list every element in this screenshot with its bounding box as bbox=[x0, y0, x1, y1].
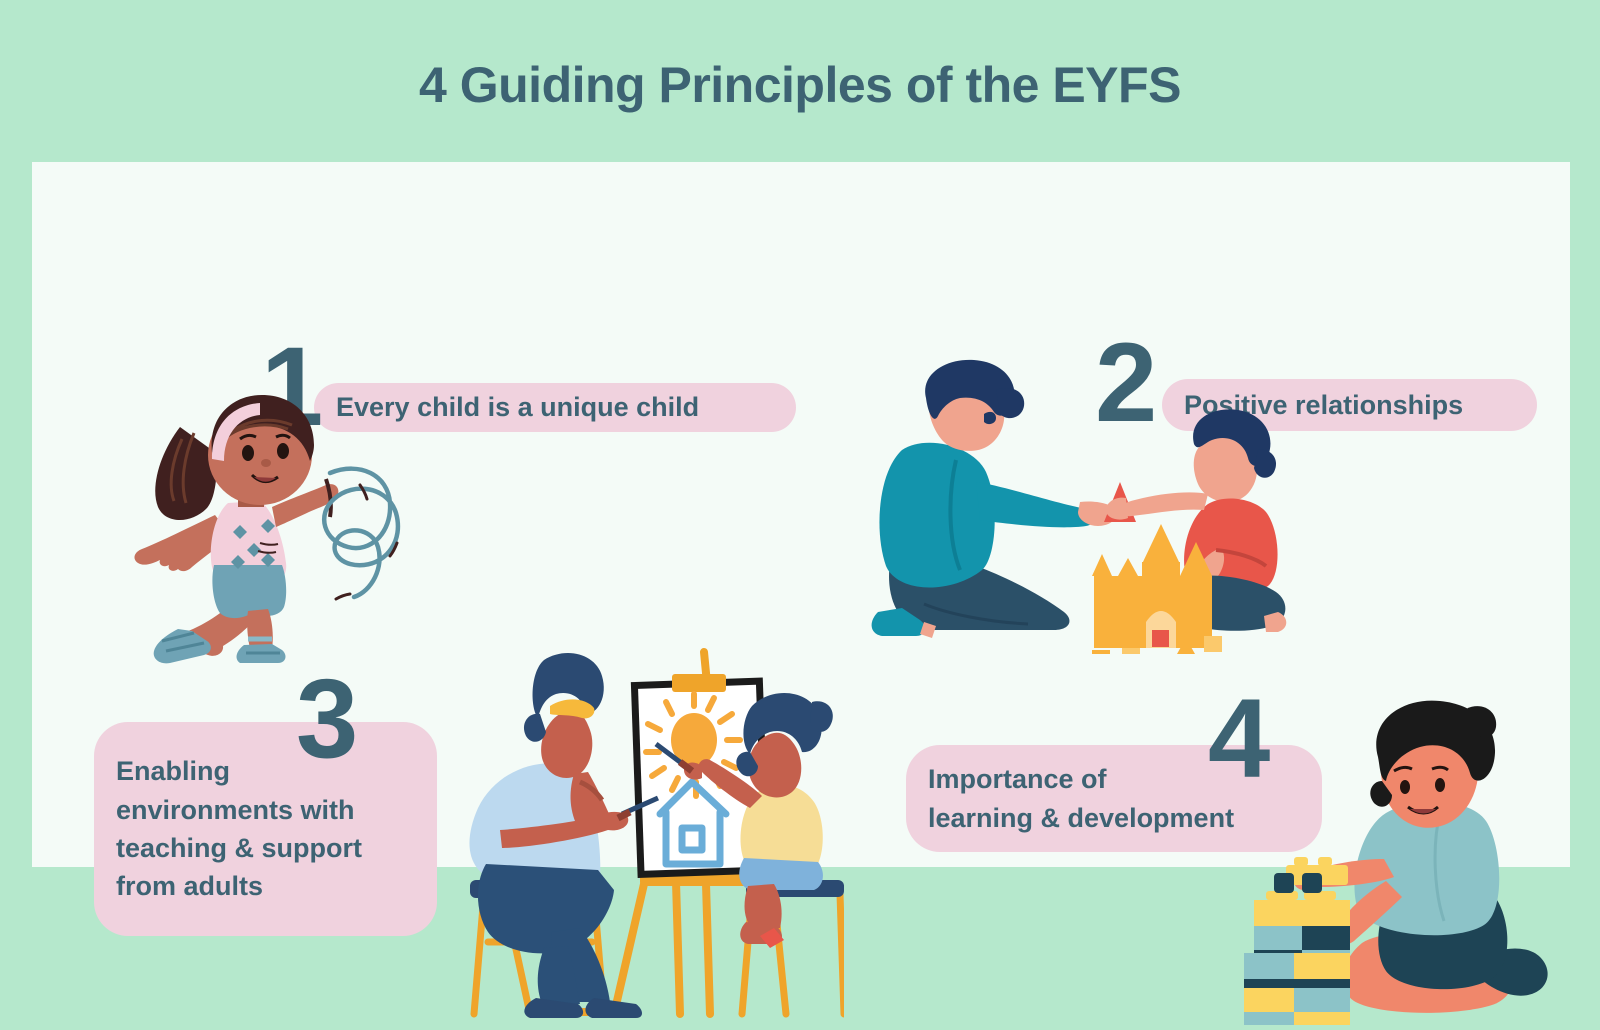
infographic-canvas: 4 Guiding Principles of the EYFS bbox=[0, 0, 1600, 900]
principle-label-4: Importance of learning & development bbox=[906, 760, 1256, 837]
page-title: 4 Guiding Principles of the EYFS bbox=[0, 56, 1600, 114]
boy-stacking-lego-blocks-illustration bbox=[1244, 695, 1584, 1025]
adult-and-child-painting-easel-illustration bbox=[444, 632, 844, 1022]
adult-and-child-building-blocks-illustration bbox=[864, 354, 1294, 654]
content-panel: 1 Every child is a unique child bbox=[32, 162, 1570, 867]
girl-with-ribbon-illustration bbox=[120, 367, 420, 667]
principle-badge-3[interactable]: Enabling environments with teaching & su… bbox=[94, 722, 437, 936]
principle-number-3: 3 bbox=[296, 670, 358, 769]
